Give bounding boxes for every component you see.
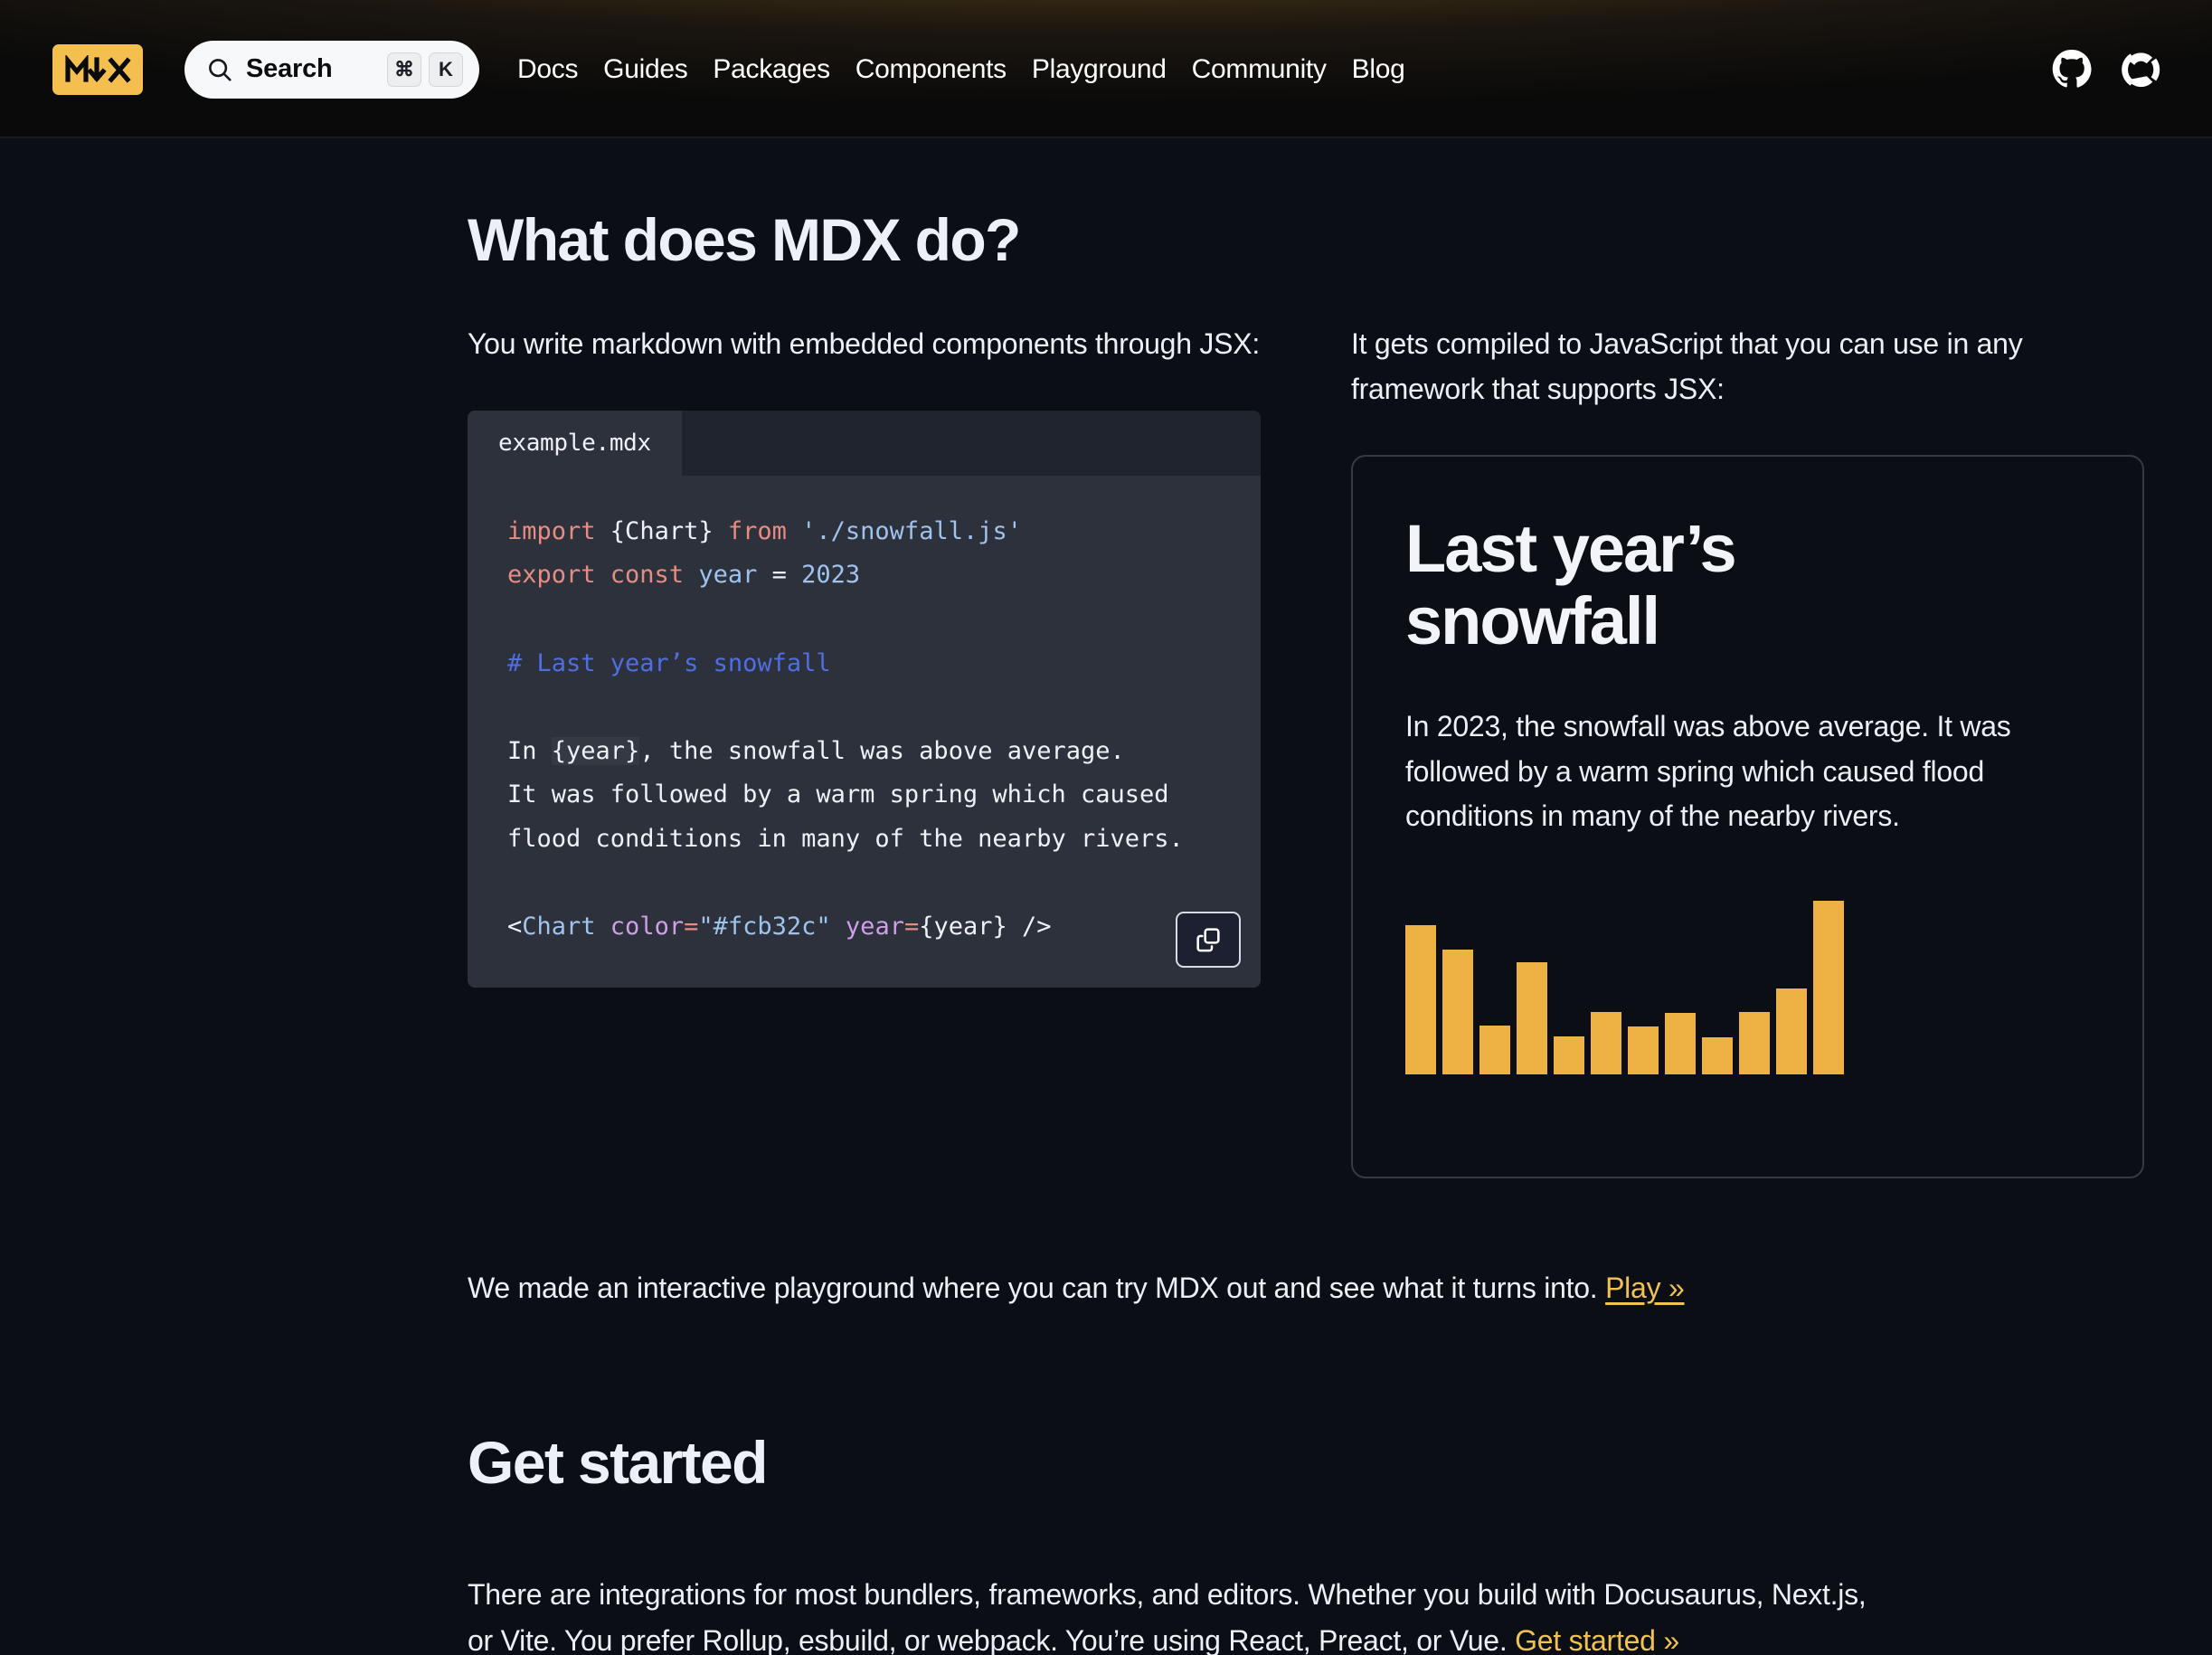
chart-bar xyxy=(1591,1012,1621,1074)
search-icon xyxy=(206,56,233,83)
copy-code-button[interactable] xyxy=(1176,912,1241,968)
code-token-chart-binding: {Chart} xyxy=(596,517,728,545)
nav-item-packages[interactable]: Packages xyxy=(713,54,829,85)
chart-bar xyxy=(1517,962,1547,1074)
code-token-equals: = xyxy=(757,561,801,589)
page-title-get-started: Get started xyxy=(468,1432,1873,1494)
code-block: example.mdx import {Chart} from './snowf… xyxy=(468,411,1261,988)
code-token-from: from xyxy=(728,517,787,545)
chart-bar xyxy=(1628,1026,1659,1074)
code-token-attr-eq-1: = xyxy=(684,913,698,941)
lede-left: You write markdown with embedded compone… xyxy=(468,322,1261,367)
code-token-attr-eq-2: = xyxy=(904,913,919,941)
chart-bar xyxy=(1479,1026,1510,1074)
chart-bar xyxy=(1739,1012,1770,1074)
chart-bar xyxy=(1776,988,1807,1074)
main-nav: Docs Guides Packages Components Playgrou… xyxy=(517,54,1405,85)
output-heading: Last year’s snowfall xyxy=(1405,513,1912,657)
nav-item-community[interactable]: Community xyxy=(1192,54,1327,85)
chart-bar xyxy=(1442,950,1473,1074)
nav-item-guides[interactable]: Guides xyxy=(603,54,687,85)
code-tabbar: example.mdx xyxy=(468,411,1261,476)
playground-paragraph: We made an interactive playground where … xyxy=(468,1265,1873,1311)
code-token-jsx-tag: Chart xyxy=(522,913,595,941)
copy-icon xyxy=(1194,925,1223,954)
nav-item-components[interactable]: Components xyxy=(855,54,1007,85)
page-content: What does MDX do? You write markdown wit… xyxy=(0,209,2212,1655)
kbd-k: K xyxy=(429,52,463,87)
github-icon[interactable] xyxy=(2051,49,2093,90)
code-token-year-expr: {year} xyxy=(552,737,640,765)
column-source: You write markdown with embedded compone… xyxy=(468,322,1261,1178)
code-content: import {Chart} from './snowfall.js' expo… xyxy=(468,476,1261,988)
nav-item-playground[interactable]: Playground xyxy=(1032,54,1167,85)
two-column-layout: You write markdown with embedded compone… xyxy=(468,322,1873,1178)
chart-bar xyxy=(1813,901,1844,1074)
get-started-paragraph: There are integrations for most bundlers… xyxy=(468,1572,1873,1655)
chart-bar xyxy=(1554,1036,1584,1074)
mdx-logo[interactable] xyxy=(52,44,143,95)
code-token-attr-color: color xyxy=(596,913,685,941)
chart-bar xyxy=(1405,925,1436,1074)
chart-bar xyxy=(1702,1037,1733,1074)
search-shortcut: ⌘ K xyxy=(387,52,463,87)
output-paragraph: In 2023, the snowfall was above average.… xyxy=(1405,705,2088,839)
code-token-import: import xyxy=(507,517,596,545)
code-token-markdown-heading: # Last year’s snowfall xyxy=(507,649,831,677)
code-token-attr-year-value: {year} xyxy=(919,913,1007,941)
mdx-logo-icon xyxy=(64,55,131,84)
get-started-link[interactable]: Get started » xyxy=(1515,1624,1679,1655)
code-token-jsx-selfclose: /> xyxy=(1007,913,1052,941)
play-link[interactable]: Play » xyxy=(1605,1272,1684,1304)
kbd-cmd: ⌘ xyxy=(387,52,421,87)
snowfall-bar-chart xyxy=(1405,894,2088,1074)
code-token-module-path: './snowfall.js' xyxy=(787,517,1022,545)
page-title-what-does-mdx-do: What does MDX do? xyxy=(468,209,1873,271)
code-token-2023: 2023 xyxy=(801,561,860,589)
search-button[interactable]: Search ⌘ K xyxy=(184,41,479,99)
lede-right: It gets compiled to JavaScript that you … xyxy=(1351,322,2144,411)
code-token-attr-color-value: "#fcb32c" xyxy=(698,913,830,941)
code-token-export-const: export const xyxy=(507,561,684,589)
playground-text: We made an interactive playground where … xyxy=(468,1272,1605,1304)
search-label: Search xyxy=(246,54,333,84)
code-token-text-in: In xyxy=(507,737,552,765)
header-social-links xyxy=(2051,49,2161,90)
site-header: Search ⌘ K Docs Guides Packages Componen… xyxy=(0,0,2212,138)
code-token-jsx-open: < xyxy=(507,913,522,941)
rendered-output-card: Last year’s snowfall In 2023, the snowfa… xyxy=(1351,455,2144,1178)
chart-bar xyxy=(1665,1013,1696,1074)
nav-item-blog[interactable]: Blog xyxy=(1352,54,1405,85)
code-token-text-line7: It was followed by a warm spring which c… xyxy=(507,780,1169,809)
code-token-text-rest: , the snowfall was above average. xyxy=(639,737,1124,765)
code-token-attr-year: year xyxy=(831,913,904,941)
code-token-year-var: year xyxy=(684,561,757,589)
code-token-text-line8: flood conditions in many of the nearby r… xyxy=(507,825,1184,853)
nav-item-docs[interactable]: Docs xyxy=(517,54,578,85)
code-tab-example-mdx[interactable]: example.mdx xyxy=(468,411,682,476)
open-collective-icon[interactable] xyxy=(2120,49,2161,90)
column-output: It gets compiled to JavaScript that you … xyxy=(1351,322,2144,1178)
